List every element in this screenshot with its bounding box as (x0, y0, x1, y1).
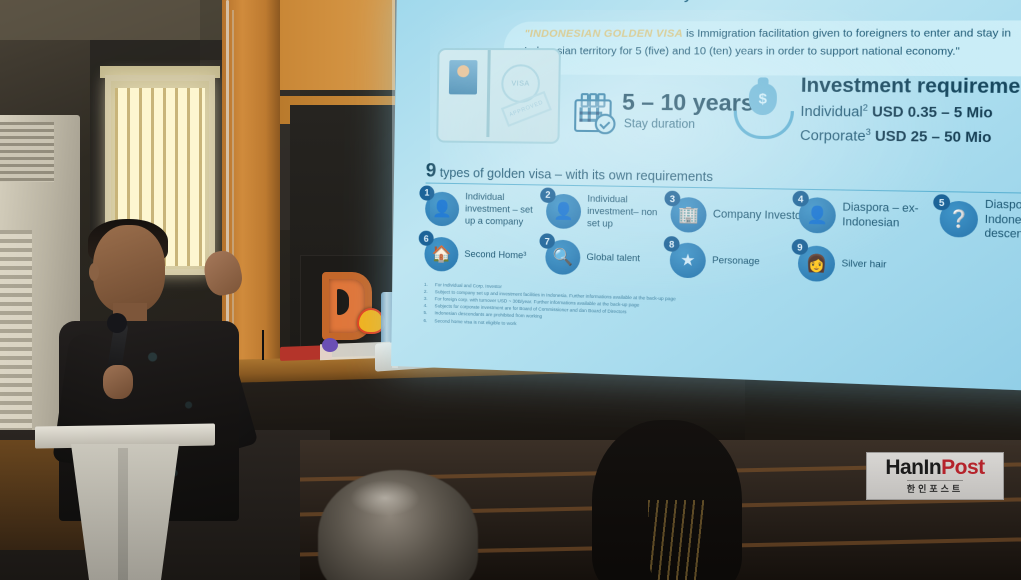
house-icon: 6🏠 (424, 237, 458, 272)
visa-type-7: 7🔍 Global talent (545, 240, 640, 277)
investment-title-text: Investment requirement (801, 75, 1021, 99)
visa-type-label: Individual investment– non set up (587, 193, 669, 231)
visa-types-heading-text: types of golden visa – with its own requ… (440, 166, 713, 185)
calendar-check-icon (574, 93, 610, 128)
visa-type-label: Diaspora – ex-Indonesian (842, 202, 949, 233)
visa-type-label: Global talent (586, 252, 640, 265)
investment-requirement-title: Investment requirement1 (801, 73, 1021, 99)
person-bust-icon: 4👤 (798, 197, 836, 233)
investment-individual-sup: 2 (863, 102, 868, 113)
stone-block (0, 0, 200, 40)
visa-type-5: 5❔ Diaspora – Indonesian descendants² (939, 197, 1021, 243)
visa-types-count: 9 (426, 160, 437, 181)
stay-duration-label: Stay duration (624, 118, 695, 131)
investment-individual-value: USD 0.35 – 5 Mio (872, 104, 993, 121)
passport-photo (449, 60, 478, 94)
visa-type-label: Personage (712, 255, 760, 268)
visa-type-6: 6🏠 Second Home³ (424, 237, 526, 274)
person-icon: 2👤 (546, 193, 581, 228)
presenter-left-hand (103, 365, 133, 399)
investment-corporate-row: Corporate3 USD 25 – 50 Mio (800, 126, 992, 145)
visa-type-label: Individual investment – set up a company (465, 191, 545, 228)
visa-type-9: 9👩 Silver hair (798, 245, 887, 283)
presenter-head (93, 225, 165, 313)
visa-type-1: 1👤 Individual investment – set up a comp… (425, 191, 544, 229)
visa-type-8: 8★ Personage (670, 242, 760, 280)
footnote-list: 1.For Individual and Corp. Investor 2.Su… (423, 281, 863, 338)
investment-corporate-sup: 3 (866, 126, 871, 137)
air-conditioner-vent (0, 122, 54, 182)
wooden-panel (280, 0, 395, 90)
photo-scene: Indonesian Golden Visa economy "INDONESI… (0, 0, 1021, 580)
watermark-korean: 한인포스트 (907, 480, 963, 495)
investment-corporate-value: USD 25 – 50 Mio (875, 128, 992, 145)
golden-visa-definition-quote: "INDONESIAN GOLDEN VISA is Immigration f… (524, 25, 1021, 62)
person-question-icon: 5❔ (939, 201, 978, 238)
people-star-icon: 8★ (670, 242, 706, 278)
elderly-person-icon: 9👩 (798, 245, 836, 282)
quote-lead: "INDONESIAN GOLDEN VISA (524, 27, 683, 39)
projection-screen: Indonesian Golden Visa economy "INDONESI… (391, 0, 1021, 392)
visa-type-2: 2👤 Individual investment– non set up (546, 193, 669, 232)
purple-object-on-ledge (322, 338, 338, 352)
slide-title: Indonesian Golden Visa economy (432, 0, 774, 5)
presenter-ear (89, 263, 99, 281)
watermark-wordmark: HanInPost (885, 457, 984, 478)
visa-type-label: Diaspora – Indonesian descendants² (984, 198, 1021, 244)
microphone-head (107, 313, 127, 333)
haninpost-watermark: HanInPost 한인포스트 (866, 452, 1004, 500)
audience-head-highlight (350, 480, 420, 516)
person-company-icon: 1👤 (425, 191, 459, 226)
audience-hair-highlight (648, 500, 704, 580)
air-conditioner-grill (0, 230, 32, 445)
investment-individual-row: Individual2 USD 0.35 – 5 Mio (800, 102, 993, 121)
visa-type-label: Silver hair (841, 258, 886, 272)
visa-type-3: 3🏢 Company Investor ¹ (670, 197, 812, 235)
building-icon: 3🏢 (670, 197, 706, 233)
podium-ridge (118, 448, 128, 580)
investment-corporate-label: Corporate (800, 127, 866, 143)
visa-type-4: 4👤 Diaspora – ex-Indonesian (798, 197, 949, 236)
investment-individual-label: Individual (800, 103, 863, 119)
presentation-slide: Indonesian Golden Visa economy "INDONESI… (391, 0, 1021, 392)
visa-type-label: Company Investor ¹ (713, 208, 813, 224)
money-bag-in-hand-icon: $ (733, 84, 790, 143)
visa-type-label: Second Home³ (464, 249, 526, 262)
presenter-right-hand (201, 248, 245, 299)
person-magnifier-icon: 7🔍 (545, 240, 580, 276)
pen-on-ledge (262, 330, 264, 360)
